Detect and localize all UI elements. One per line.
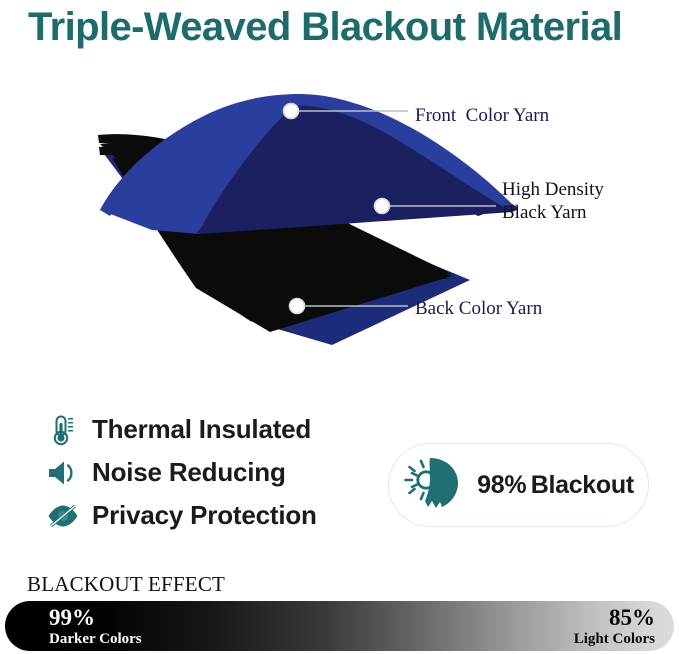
callout-label-line1: High Density xyxy=(502,179,604,200)
page-title: Triple-Weaved Blackout Material xyxy=(28,4,658,50)
darker-colors-label: Darker Colors xyxy=(49,630,142,648)
feature-label-thermal-insulated: Thermal Insulated xyxy=(92,414,311,445)
feature-row-thermal-insulated: Thermal Insulated xyxy=(44,408,354,451)
callout-label-back-color-yarn: Back Color Yarn xyxy=(415,297,542,320)
sun-blocked-icon xyxy=(401,455,475,515)
callout-label-high-density-black-yarn: High DensityBlack Yarn xyxy=(502,178,604,224)
blackout-percent: 98% xyxy=(477,471,526,499)
light-colors-percent: 85% xyxy=(574,605,655,630)
blackout-badge: 98% Blackout xyxy=(388,443,649,527)
feature-row-privacy-protection: Privacy Protection xyxy=(44,494,354,537)
callout-label-line2: Black Yarn xyxy=(502,202,586,223)
callout-label-front-color-yarn: Front Color Yarn xyxy=(415,104,549,127)
feature-row-noise-reducing: Noise Reducing xyxy=(44,451,354,494)
ring-marker-high-density xyxy=(375,199,390,214)
eye-off-icon xyxy=(44,498,82,534)
blackout-badge-text: 98% Blackout xyxy=(475,471,648,499)
feature-label-noise-reducing: Noise Reducing xyxy=(92,457,286,488)
speaker-icon xyxy=(44,455,82,491)
light-colors-label: Light Colors xyxy=(574,630,655,648)
blackout-effect-heading: BLACKOUT EFFECT xyxy=(27,572,225,596)
blackout-label: Blackout xyxy=(531,471,634,499)
ring-marker-back xyxy=(290,299,305,314)
feature-label-privacy-protection: Privacy Protection xyxy=(92,500,317,531)
darker-colors-percent: 99% xyxy=(49,605,142,630)
feature-list: Thermal Insulated Noise Reducing Privacy… xyxy=(44,408,354,537)
ring-marker-front xyxy=(284,104,299,119)
gradient-bar-light-colors-group: 85% Light Colors xyxy=(574,605,655,648)
thermometer-icon xyxy=(44,412,82,448)
gradient-bar-darker-colors-group: 99% Darker Colors xyxy=(49,605,142,648)
